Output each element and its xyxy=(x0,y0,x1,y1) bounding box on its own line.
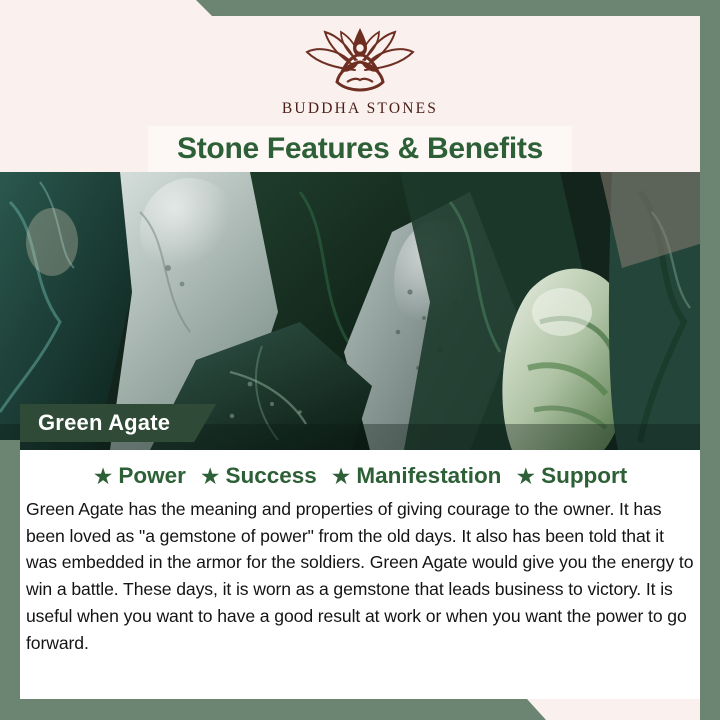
page-title-band: Stone Features & Benefits xyxy=(148,126,572,172)
brand-logo: BUDDHA STONES xyxy=(275,24,445,118)
star-icon: ★ xyxy=(515,465,536,488)
benefits-list: ★ Power ★ Success ★ Manifestation ★ Supp… xyxy=(20,450,700,489)
lotus-meditation-icon xyxy=(285,24,435,96)
benefit-item-support: ★ Support xyxy=(515,463,627,489)
benefit-label: Success xyxy=(225,463,316,489)
star-icon: ★ xyxy=(93,465,114,488)
benefit-label: Manifestation xyxy=(356,463,501,489)
benefit-item-success: ★ Success xyxy=(200,463,317,489)
benefit-item-power: ★ Power xyxy=(93,463,186,489)
description-text: Green Agate has the meaning and properti… xyxy=(26,496,694,656)
frame-bottom-band xyxy=(0,699,720,720)
star-icon: ★ xyxy=(200,465,221,488)
star-icon: ★ xyxy=(331,465,352,488)
stone-name-banner: Green Agate xyxy=(20,404,216,442)
brand-name: BUDDHA STONES xyxy=(275,100,445,118)
frame-left-band xyxy=(0,440,20,720)
frame-right-band xyxy=(700,0,720,720)
benefit-label: Support xyxy=(541,463,627,489)
benefit-item-manifestation: ★ Manifestation xyxy=(331,463,502,489)
infographic-card: BUDDHA STONES Stone Features & Benefits xyxy=(0,0,720,720)
header: BUDDHA STONES Stone Features & Benefits xyxy=(0,0,720,172)
stone-name: Green Agate xyxy=(38,410,170,436)
content-panel: ★ Power ★ Success ★ Manifestation ★ Supp… xyxy=(20,450,700,699)
page-title: Stone Features & Benefits xyxy=(177,132,543,166)
benefit-label: Power xyxy=(118,463,186,489)
